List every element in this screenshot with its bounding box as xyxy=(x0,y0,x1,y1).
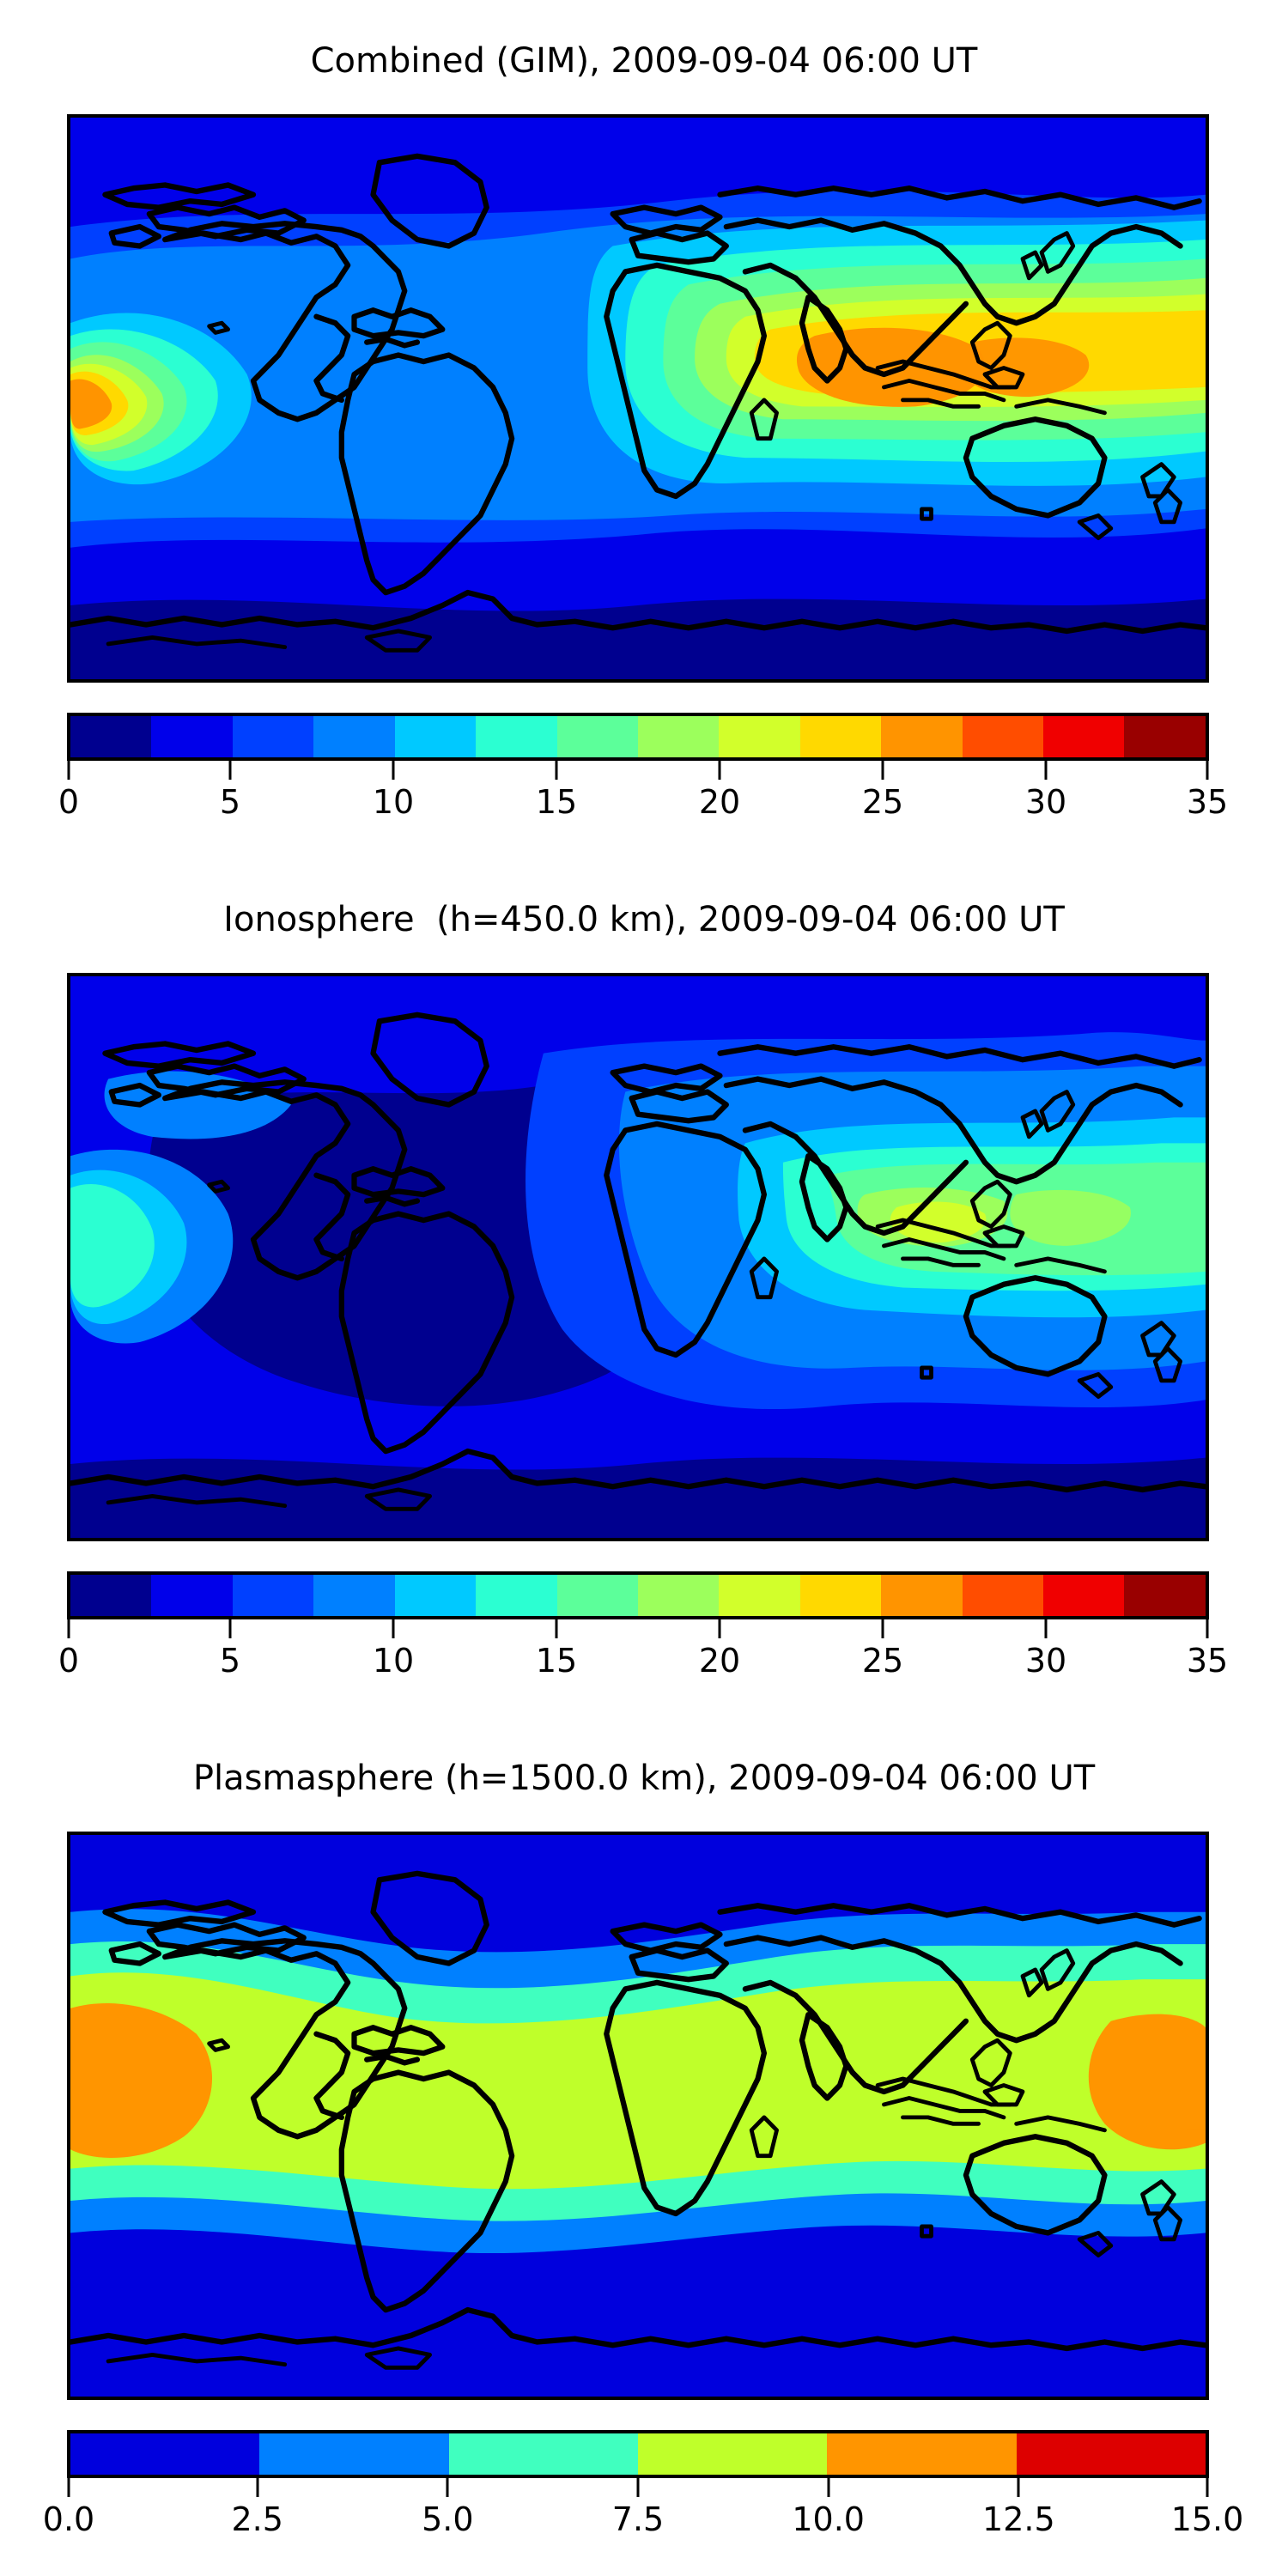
colorbar-tick-label: 20 xyxy=(699,783,740,821)
colorbar-band-9 xyxy=(800,716,881,757)
colorbar-tick-label: 5.0 xyxy=(422,2500,473,2538)
colorbar-tick-label: 0 xyxy=(58,1642,79,1680)
colorbar-tick-label: 10 xyxy=(373,783,414,821)
colorbar-tick xyxy=(719,1619,721,1638)
colorbar-tick-label: 15 xyxy=(536,783,577,821)
colorbar-band-5 xyxy=(1017,2433,1206,2475)
colorbar-band-4 xyxy=(827,2433,1016,2475)
colorbar-ionosphere-labels: 05101520253035 xyxy=(67,1642,1209,1688)
colorbar-band-2 xyxy=(233,716,313,757)
map-combined-gim xyxy=(67,114,1209,683)
colorbar-band-4 xyxy=(395,1575,476,1616)
colorbar-plasmasphere-labels: 0.02.55.07.510.012.515.0 xyxy=(67,2500,1209,2547)
colorbar-ionosphere-ticks xyxy=(67,1619,1209,1642)
map-ionosphere xyxy=(67,973,1209,1541)
colorbar-combined-wrap: 05101520253035 xyxy=(67,713,1209,829)
colorbar-plasmasphere[interactable] xyxy=(67,2430,1209,2478)
colorbar-band-1 xyxy=(151,716,232,757)
colorbar-tick xyxy=(1045,1619,1048,1638)
colorbar-tick-label: 15.0 xyxy=(1171,2500,1244,2538)
colorbar-tick xyxy=(256,2478,258,2497)
colorbar-tick xyxy=(882,1619,884,1638)
colorbar-tick xyxy=(1206,1619,1209,1638)
colorbar-band-10 xyxy=(881,1575,962,1616)
panel-plasmasphere: Plasmasphere (h=1500.0 km), 2009-09-04 0… xyxy=(0,1717,1288,2576)
colorbar-ionosphere[interactable] xyxy=(67,1571,1209,1619)
panel-title-ionosphere: Ionosphere (h=450.0 km), 2009-09-04 06:0… xyxy=(0,900,1288,939)
colorbar-band-5 xyxy=(476,716,556,757)
colorbar-band-5 xyxy=(476,1575,556,1616)
colorbar-tick-label: 10.0 xyxy=(792,2500,865,2538)
colorbar-band-12 xyxy=(1043,1575,1124,1616)
colorbar-tick xyxy=(68,1619,70,1638)
colorbar-tick-label: 10 xyxy=(373,1642,414,1680)
colorbar-band-3 xyxy=(313,716,394,757)
colorbar-band-3 xyxy=(638,2433,827,2475)
colorbar-band-0 xyxy=(70,1575,151,1616)
colorbar-band-13 xyxy=(1124,716,1205,757)
colorbar-band-11 xyxy=(963,1575,1043,1616)
contour-fill-ionosphere xyxy=(70,976,1206,1538)
colorbar-tick-label: 5 xyxy=(220,1642,240,1680)
contour-fill-combined xyxy=(70,118,1206,679)
colorbar-tick-label: 12.5 xyxy=(982,2500,1055,2538)
colorbar-tick-label: 35 xyxy=(1187,1642,1228,1680)
colorbar-tick-label: 15 xyxy=(536,1642,577,1680)
contour-fill-plasmasphere xyxy=(70,1835,1206,2397)
colorbar-tick-label: 25 xyxy=(862,783,903,821)
colorbar-tick xyxy=(1045,761,1048,780)
colorbar-tick xyxy=(556,1619,558,1638)
colorbar-band-6 xyxy=(557,716,638,757)
panel-ionosphere: Ionosphere (h=450.0 km), 2009-09-04 06:0… xyxy=(0,859,1288,1717)
colorbar-tick xyxy=(637,2478,640,2497)
colorbar-tick xyxy=(1206,761,1209,780)
colorbar-plasmasphere-wrap: 0.02.55.07.510.012.515.0 xyxy=(67,2430,1209,2547)
colorbar-band-13 xyxy=(1124,1575,1205,1616)
colorbar-ionosphere-wrap: 05101520253035 xyxy=(67,1571,1209,1688)
map-plasmasphere xyxy=(67,1832,1209,2400)
panel-title-combined: Combined (GIM), 2009-09-04 06:00 UT xyxy=(0,41,1288,81)
colorbar-tick xyxy=(1018,2478,1020,2497)
colorbar-tick-label: 2.5 xyxy=(231,2500,283,2538)
colorbar-tick xyxy=(1206,2478,1209,2497)
colorbar-band-4 xyxy=(395,716,476,757)
colorbar-band-8 xyxy=(719,1575,799,1616)
colorbar-tick xyxy=(229,1619,232,1638)
colorbar-tick xyxy=(556,761,558,780)
colorbar-tick xyxy=(392,1619,395,1638)
colorbar-tick xyxy=(229,761,232,780)
colorbar-band-1 xyxy=(151,1575,232,1616)
colorbar-tick-label: 25 xyxy=(862,1642,903,1680)
map-svg-plasmasphere xyxy=(70,1835,1206,2397)
figure-canvas: Combined (GIM), 2009-09-04 06:00 UT xyxy=(0,0,1288,2576)
colorbar-tick-label: 30 xyxy=(1025,1642,1066,1680)
colorbar-band-11 xyxy=(963,716,1043,757)
colorbar-tick xyxy=(882,761,884,780)
colorbar-band-2 xyxy=(233,1575,313,1616)
colorbar-band-3 xyxy=(313,1575,394,1616)
colorbar-band-0 xyxy=(70,716,151,757)
colorbar-band-10 xyxy=(881,716,962,757)
colorbar-tick xyxy=(68,761,70,780)
colorbar-tick xyxy=(68,2478,70,2497)
colorbar-band-7 xyxy=(638,1575,719,1616)
colorbar-tick xyxy=(827,2478,829,2497)
colorbar-combined-ticks xyxy=(67,761,1209,783)
panel-title-plasmasphere: Plasmasphere (h=1500.0 km), 2009-09-04 0… xyxy=(0,1759,1288,1798)
colorbar-plasmasphere-ticks xyxy=(67,2478,1209,2500)
colorbar-band-12 xyxy=(1043,716,1124,757)
map-svg-ionosphere xyxy=(70,976,1206,1538)
colorbar-tick xyxy=(719,761,721,780)
map-svg-combined xyxy=(70,118,1206,679)
colorbar-tick-label: 0 xyxy=(58,783,79,821)
colorbar-tick-label: 7.5 xyxy=(612,2500,664,2538)
colorbar-combined-labels: 05101520253035 xyxy=(67,783,1209,829)
colorbar-tick-label: 0.0 xyxy=(43,2500,94,2538)
colorbar-band-8 xyxy=(719,716,799,757)
colorbar-tick xyxy=(392,761,395,780)
colorbar-band-9 xyxy=(800,1575,881,1616)
colorbar-band-1 xyxy=(259,2433,448,2475)
colorbar-tick-label: 5 xyxy=(220,783,240,821)
colorbar-tick-label: 30 xyxy=(1025,783,1066,821)
colorbar-band-2 xyxy=(449,2433,638,2475)
colorbar-band-0 xyxy=(70,2433,259,2475)
colorbar-tick-label: 35 xyxy=(1187,783,1228,821)
colorbar-tick-label: 20 xyxy=(699,1642,740,1680)
panel-combined-gim: Combined (GIM), 2009-09-04 06:00 UT xyxy=(0,0,1288,859)
colorbar-band-7 xyxy=(638,716,719,757)
colorbar-band-6 xyxy=(557,1575,638,1616)
colorbar-combined[interactable] xyxy=(67,713,1209,761)
colorbar-tick xyxy=(447,2478,449,2497)
